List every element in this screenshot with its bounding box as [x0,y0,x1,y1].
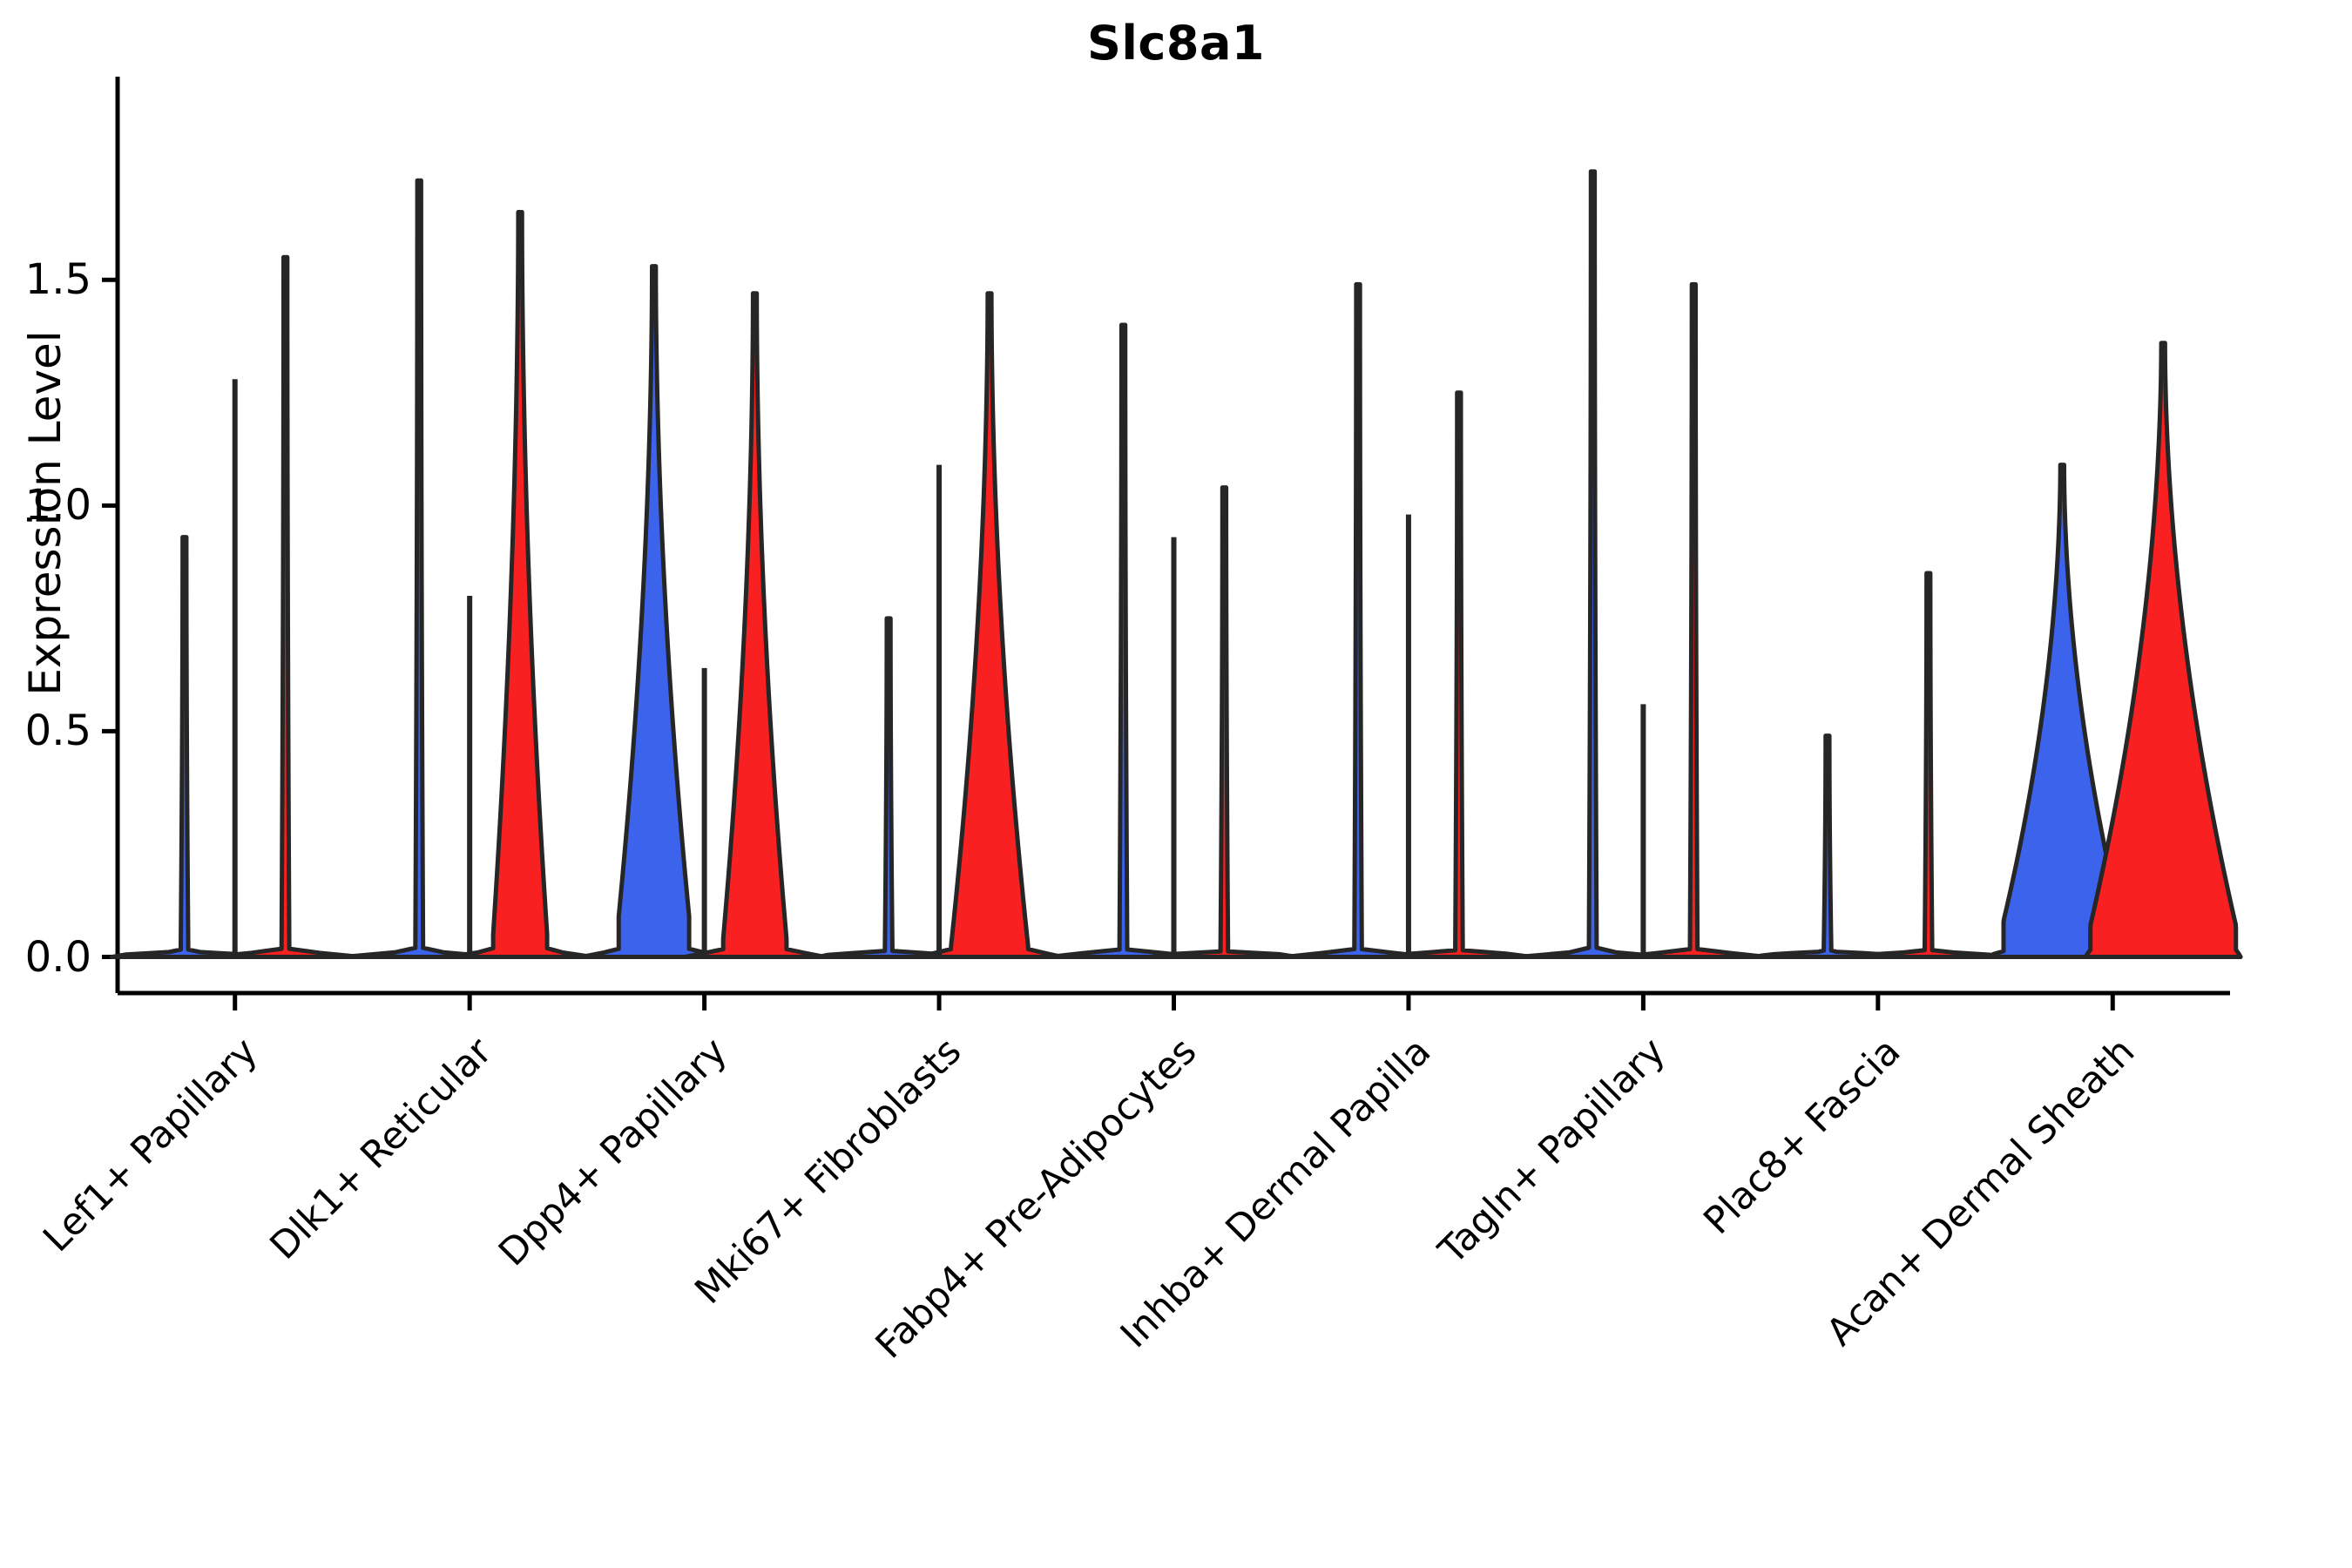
y-tick-label: 0.0 [0,933,91,982]
violin-plot-figure: Slc8a1 Expression Level 0.00.51.01.5 Lef… [0,0,2352,1568]
x-axis-ticks [235,993,2113,1010]
y-axis-ticks [102,280,118,956]
violin-body[interactable] [1757,736,1898,957]
y-tick-label: 1.0 [0,481,91,530]
violin-body[interactable] [2085,343,2240,957]
y-tick-label: 0.5 [0,706,91,755]
violin-body[interactable] [1855,573,2001,956]
y-tick-label: 1.5 [0,255,91,304]
violin-spike-layer [235,379,1644,956]
violin-chart-canvas [0,0,2352,1568]
